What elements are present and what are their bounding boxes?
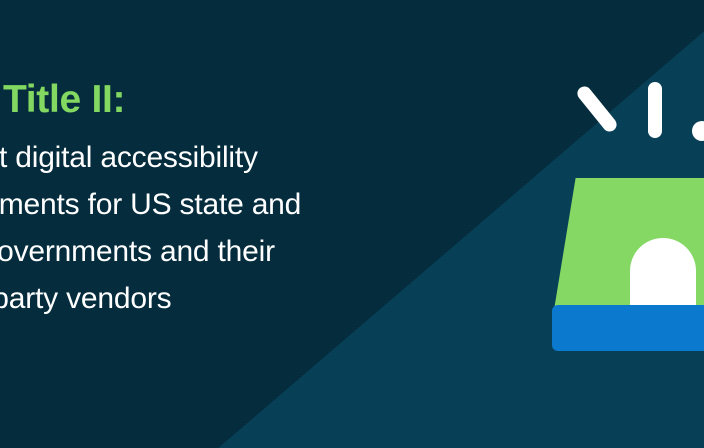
banner-subheadline: ent digital accessibility irements for U… — [0, 134, 486, 322]
promotional-banner: A Title II: ent digital accessibility ir… — [0, 0, 704, 448]
banner-text-block: A Title II: ent digital accessibility ir… — [0, 76, 486, 322]
subheadline-line-1: ent digital accessibility — [0, 134, 486, 181]
subheadline-line-2: irements for US state and — [0, 181, 486, 228]
light-ray-vertical-icon — [648, 82, 662, 138]
siren-base-icon — [552, 305, 704, 351]
banner-headline: A Title II: — [0, 76, 486, 124]
subheadline-line-4: d-party vendors — [0, 275, 486, 322]
light-ray-right-edge-icon — [692, 121, 704, 141]
light-ray-diagonal-icon — [575, 84, 620, 135]
subheadline-line-3: l governments and their — [0, 228, 486, 275]
siren-beacon-illustration — [520, 60, 704, 360]
siren-lamp-dome-icon — [630, 238, 696, 310]
